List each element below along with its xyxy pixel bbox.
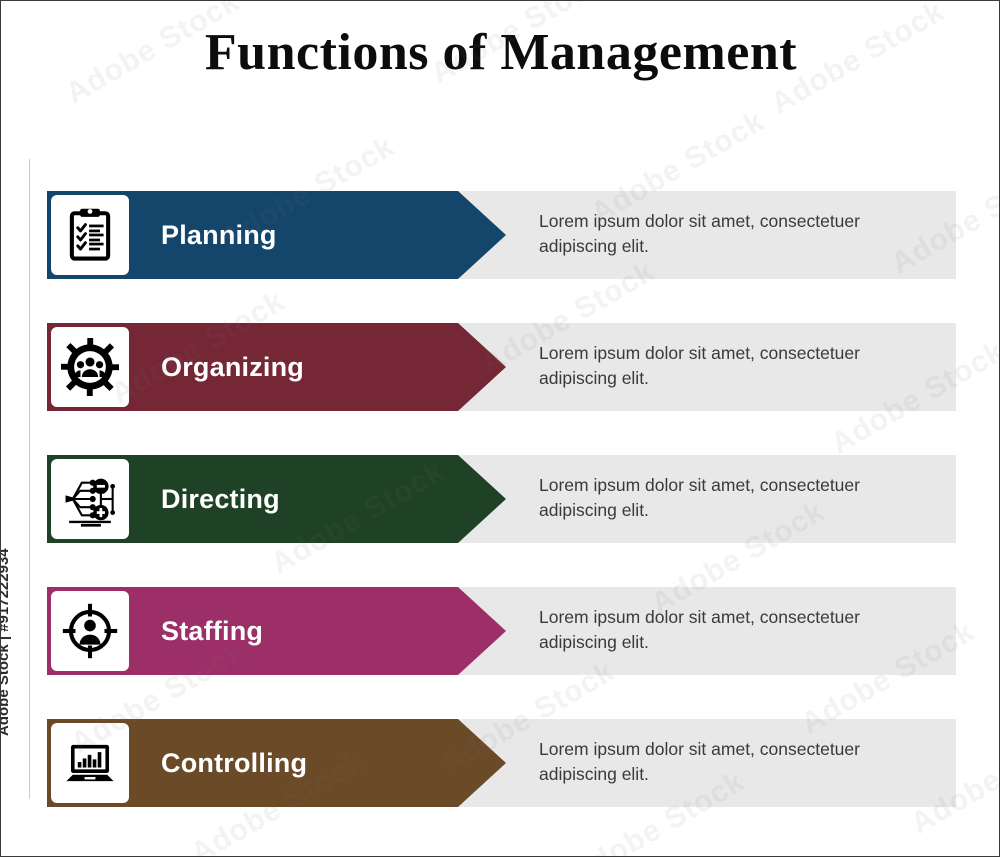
function-label: Directing [161,455,280,543]
function-label: Organizing [161,323,304,411]
function-row[interactable]: Lorem ipsum dolor sit amet, consectetuer… [1,455,1000,543]
network-flow-icon [61,470,119,528]
target-person-icon [61,602,119,660]
function-label: Planning [161,191,277,279]
function-row[interactable]: Lorem ipsum dolor sit amet, consectetuer… [1,587,1000,675]
page-title: Functions of Management [1,23,1000,82]
description-panel: Lorem ipsum dolor sit amet, consectetuer… [459,191,956,279]
infographic-canvas: Adobe StockAdobe StockAdobe StockAdobe S… [0,0,1000,857]
function-row[interactable]: Lorem ipsum dolor sit amet, consectetuer… [1,719,1000,807]
stock-credit-label: Adobe Stock | #917222934 [0,548,12,736]
description-text: Lorem ipsum dolor sit amet, consectetuer… [539,737,939,788]
description-panel: Lorem ipsum dolor sit amet, consectetuer… [459,455,956,543]
target-person-icon-container[interactable] [47,587,133,675]
laptop-chart-icon [61,734,119,792]
gear-people-icon [61,338,119,396]
description-text: Lorem ipsum dolor sit amet, consectetuer… [539,209,939,260]
description-text: Lorem ipsum dolor sit amet, consectetuer… [539,473,939,524]
network-flow-icon-container[interactable] [47,455,133,543]
laptop-chart-icon-container[interactable] [47,719,133,807]
function-row[interactable]: Lorem ipsum dolor sit amet, consectetuer… [1,191,1000,279]
description-panel: Lorem ipsum dolor sit amet, consectetuer… [459,719,956,807]
functions-list: Lorem ipsum dolor sit amet, consectetuer… [1,191,1000,807]
description-text: Lorem ipsum dolor sit amet, consectetuer… [539,605,939,656]
function-row[interactable]: Lorem ipsum dolor sit amet, consectetuer… [1,323,1000,411]
clipboard-checklist-icon [61,206,119,264]
description-panel: Lorem ipsum dolor sit amet, consectetuer… [459,323,956,411]
function-label: Controlling [161,719,307,807]
gear-people-icon-container[interactable] [47,323,133,411]
description-panel: Lorem ipsum dolor sit amet, consectetuer… [459,587,956,675]
clipboard-checklist-icon-container[interactable] [47,191,133,279]
description-text: Lorem ipsum dolor sit amet, consectetuer… [539,341,939,392]
function-label: Staffing [161,587,263,675]
